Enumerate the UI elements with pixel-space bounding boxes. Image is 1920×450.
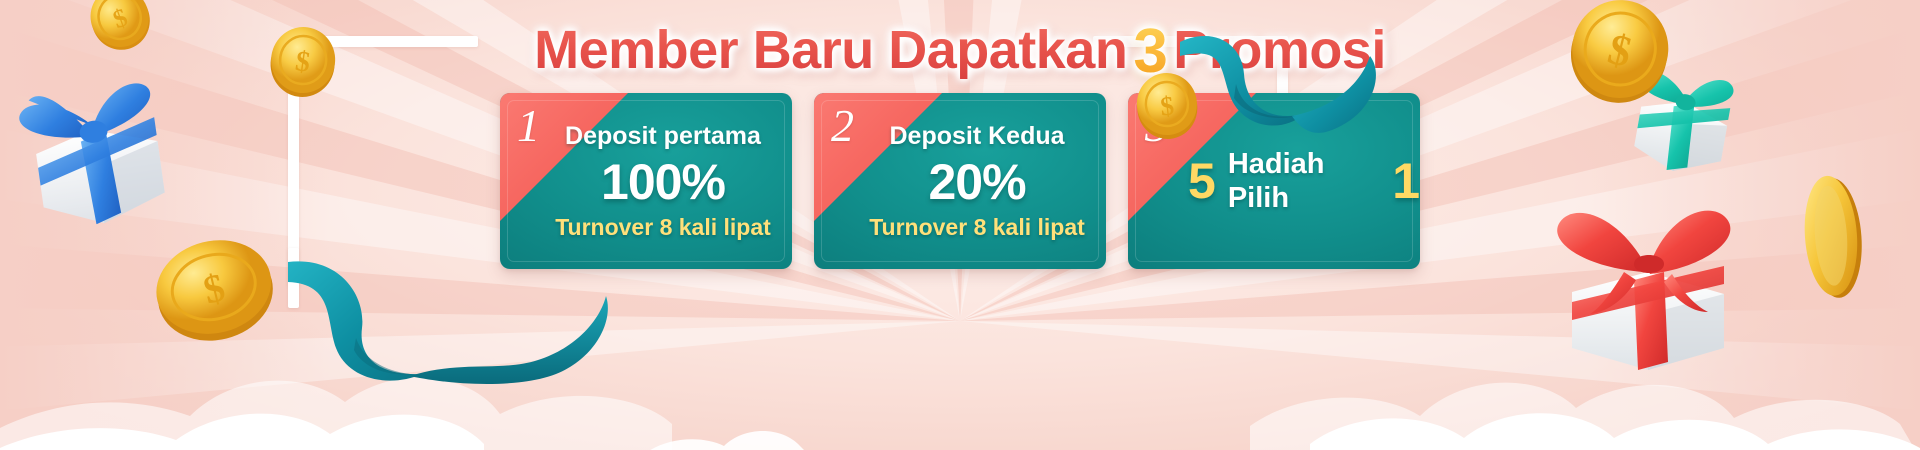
cloud-icon [0,298,1920,450]
card-gift-count: 5 [1188,153,1216,209]
title-part-one: Member Baru Dapatkan [534,18,1127,82]
promo-card-gift-choice[interactable]: 3 5 Hadiah Pilih 1 [1128,93,1420,269]
card-value: 100% [601,153,725,211]
promo-card-second-deposit[interactable]: 2 Deposit Kedua 20% Turnover 8 kali lipa… [814,93,1106,269]
promo-card-list: 1 Deposit pertama 100% Turnover 8 kali l… [0,93,1920,269]
card-gift-pick: 1 [1392,153,1420,209]
card-title: Deposit Kedua [889,121,1064,151]
card-title: Deposit pertama [565,121,761,151]
card-gift-label: Hadiah Pilih [1228,147,1380,215]
card-note: Turnover 8 kali lipat [869,213,1085,241]
card-value: 20% [928,153,1025,211]
title-part-two: Promosi [1173,18,1386,82]
card-note: Turnover 8 kali lipat [555,213,771,241]
banner-title: Member Baru Dapatkan3Promosi [0,16,1920,82]
title-highlight-number: 3 [1133,20,1167,84]
promo-card-first-deposit[interactable]: 1 Deposit pertama 100% Turnover 8 kali l… [500,93,792,269]
promotion-banner: Member Baru Dapatkan3Promosi 1 Deposit p… [0,0,1920,450]
